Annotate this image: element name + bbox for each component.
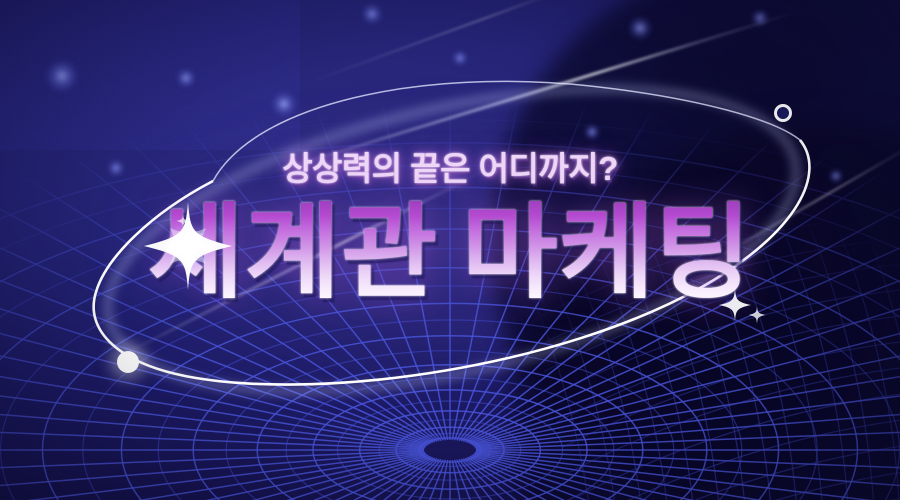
hero-banner: 상상력의 끝은 어디까지? 세계관마케팅 — [0, 0, 900, 500]
orbit-node-filled-icon — [117, 351, 139, 373]
title-word-2: 마케팅 — [462, 195, 752, 311]
subtitle-text: 상상력의 끝은 어디까지? — [0, 152, 900, 185]
page-title: 세계관마케팅 — [148, 201, 752, 305]
headline-block: 상상력의 끝은 어디까지? 세계관마케팅 — [0, 152, 900, 305]
sparkle-star-small-icon — [718, 288, 752, 322]
sparkle-star-tiny-icon — [748, 306, 766, 324]
sparkle-star-icon — [140, 198, 236, 294]
sparkle-star-micro-icon — [176, 214, 190, 228]
orbit-node-hollow-icon — [776, 106, 791, 121]
